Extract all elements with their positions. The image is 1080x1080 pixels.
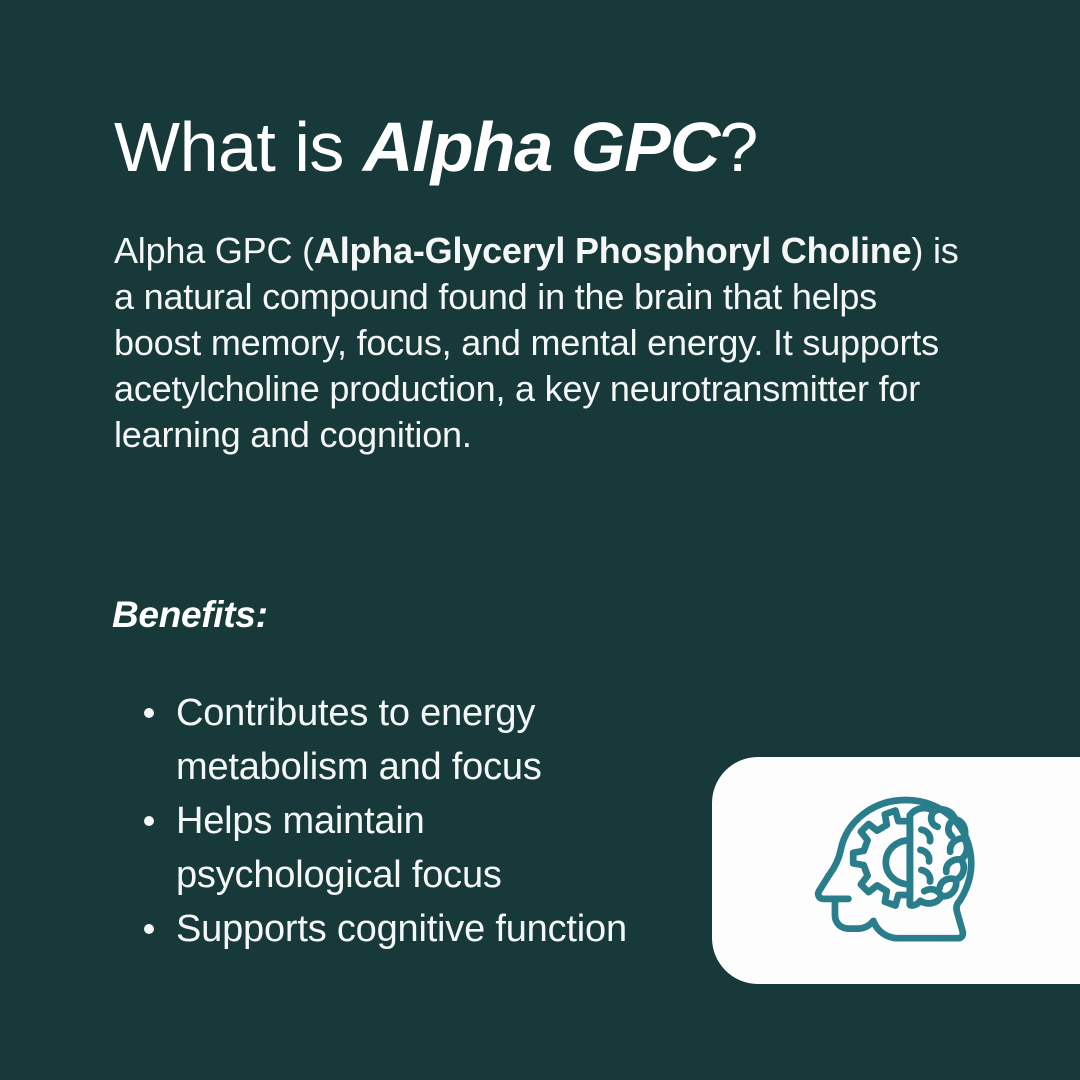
benefits-list: Contributes to energy metabolism and foc… (140, 686, 660, 956)
icon-card (712, 757, 1080, 984)
body-paragraph-part1: Alpha GPC ( (114, 230, 314, 271)
page-title-emphasis: Alpha GPC (363, 108, 720, 186)
page-title-trail: ? (719, 108, 757, 186)
list-item: Helps maintain psychological focus (140, 794, 660, 902)
info-slide: What is Alpha GPC? Alpha GPC (Alpha-Glyc… (0, 0, 1080, 1080)
page-title: What is Alpha GPC? (114, 106, 1014, 188)
body-paragraph-bold-term: Alpha-Glyceryl Phosphoryl Choline (314, 230, 912, 271)
bullet-dot-icon (144, 816, 154, 826)
list-item: Supports cognitive function (140, 902, 660, 956)
page-title-lead: What is (114, 108, 363, 186)
head-brain-gear-icon (810, 775, 1002, 967)
list-item-label: Supports cognitive function (176, 908, 627, 950)
bullet-dot-icon (144, 924, 154, 934)
bullet-dot-icon (144, 708, 154, 718)
body-paragraph: Alpha GPC (Alpha-Glyceryl Phosphoryl Cho… (114, 228, 969, 458)
list-item-label: Contributes to energy metabolism and foc… (176, 692, 542, 788)
benefits-heading: Benefits: (112, 592, 268, 638)
list-item: Contributes to energy metabolism and foc… (140, 686, 660, 794)
list-item-label: Helps maintain psychological focus (176, 800, 502, 896)
